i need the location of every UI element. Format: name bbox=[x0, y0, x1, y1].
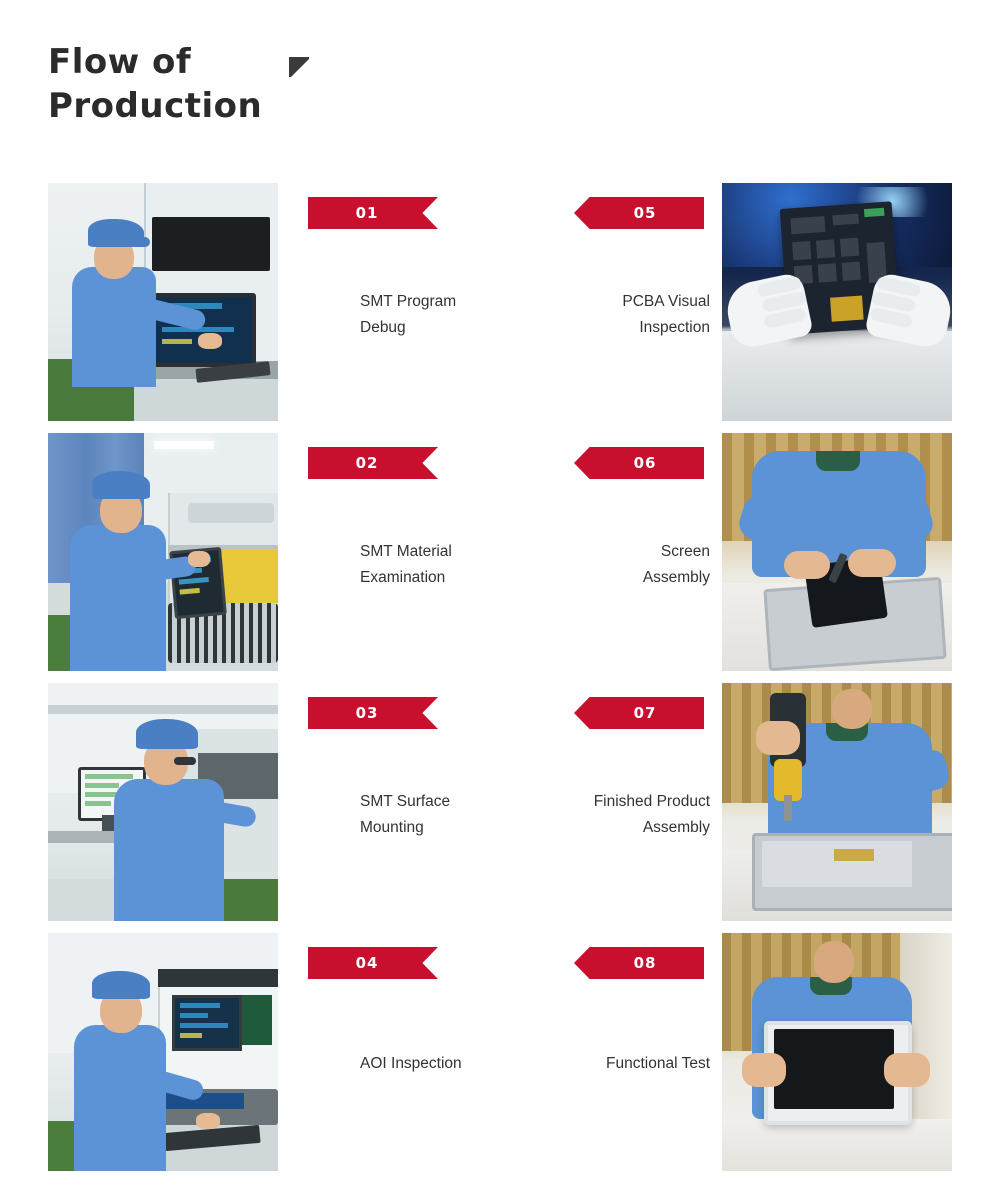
steps-grid: 01 SMT Program Debug bbox=[48, 183, 952, 1183]
steps-row: 04 AOI Inspection bbox=[48, 933, 952, 1171]
step-info-03: 03 SMT Surface Mounting bbox=[278, 683, 490, 921]
step-info-02: 02 SMT Material Examination bbox=[278, 433, 490, 671]
step-photo-04 bbox=[48, 933, 278, 1171]
step-card-08: 08 Functional Test bbox=[510, 933, 952, 1171]
step-photo-03 bbox=[48, 683, 278, 921]
step-info-06: 06 Screen Assembly bbox=[510, 433, 722, 671]
page-title-block: Flow of Production bbox=[48, 40, 468, 128]
step-info-05: 05 PCBA Visual Inspection bbox=[510, 183, 722, 421]
step-info-01: 01 SMT Program Debug bbox=[278, 183, 490, 421]
production-flow-page: Flow of Production bbox=[0, 0, 1000, 1189]
step-photo-05 bbox=[722, 183, 952, 421]
step-number-badge: 01 bbox=[308, 197, 438, 229]
steps-row: 03 SMT Surface Mounting bbox=[48, 683, 952, 921]
step-photo-02 bbox=[48, 433, 278, 671]
step-card-02: 02 SMT Material Examination bbox=[48, 433, 490, 671]
step-number-badge: 06 bbox=[574, 447, 704, 479]
step-number-badge: 07 bbox=[574, 697, 704, 729]
step-label: Functional Test bbox=[512, 1051, 710, 1077]
steps-row: 02 SMT Material Examination bbox=[48, 433, 952, 671]
step-card-01: 01 SMT Program Debug bbox=[48, 183, 490, 421]
step-photo-06 bbox=[722, 433, 952, 671]
step-number-badge: 02 bbox=[308, 447, 438, 479]
step-card-06: 06 Screen Assembly bbox=[510, 433, 952, 671]
step-photo-08 bbox=[722, 933, 952, 1171]
step-label: Finished Product Assembly bbox=[512, 789, 710, 841]
step-card-03: 03 SMT Surface Mounting bbox=[48, 683, 490, 921]
step-info-08: 08 Functional Test bbox=[510, 933, 722, 1171]
step-card-04: 04 AOI Inspection bbox=[48, 933, 490, 1171]
step-number-badge: 05 bbox=[574, 197, 704, 229]
step-photo-07 bbox=[722, 683, 952, 921]
step-number-badge: 08 bbox=[574, 947, 704, 979]
step-number-badge: 04 bbox=[308, 947, 438, 979]
step-number-badge: 03 bbox=[308, 697, 438, 729]
step-card-07: 07 Finished Product Assembly bbox=[510, 683, 952, 921]
page-title: Flow of Production bbox=[48, 40, 468, 128]
step-info-04: 04 AOI Inspection bbox=[278, 933, 490, 1171]
step-info-07: 07 Finished Product Assembly bbox=[510, 683, 722, 921]
step-label: Screen Assembly bbox=[512, 539, 710, 591]
step-card-05: 05 PCBA Visual Inspection bbox=[510, 183, 952, 421]
corner-accent-icon bbox=[288, 56, 310, 78]
step-photo-01 bbox=[48, 183, 278, 421]
steps-row: 01 SMT Program Debug bbox=[48, 183, 952, 421]
step-label: PCBA Visual Inspection bbox=[512, 289, 710, 341]
